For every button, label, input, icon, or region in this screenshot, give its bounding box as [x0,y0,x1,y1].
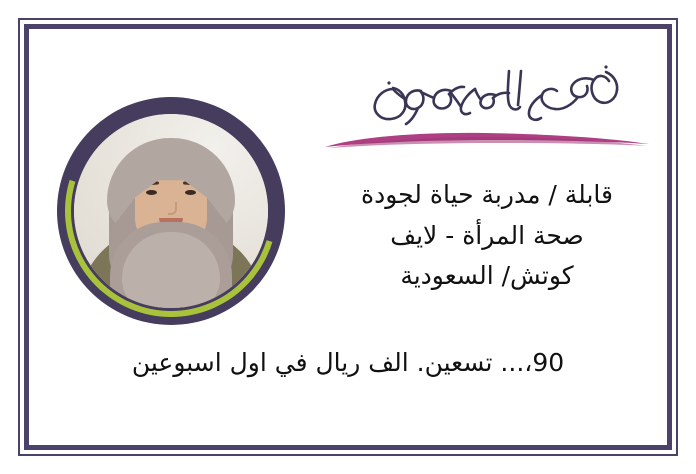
signature-name: منى المرهون [317,55,657,131]
bio-line-3: كوتش/ السعودية [317,256,657,297]
brush-underline [317,129,657,155]
card-content: منى المرهون [29,29,667,445]
avatar-green-accent-arc [28,68,315,355]
text-column: منى المرهون [317,55,657,297]
profile-card: منى المرهون [0,0,696,474]
offer-text: 90،... تسعين. الف ريال في اول اسبوعين [29,347,667,380]
bio-block: قابلة / مدربة حياة لجودة صحة المرأة - لا… [317,175,657,297]
bio-line-2: صحة المرأة - لايف [317,216,657,257]
bio-line-1: قابلة / مدربة حياة لجودة [317,175,657,216]
avatar [57,97,285,325]
